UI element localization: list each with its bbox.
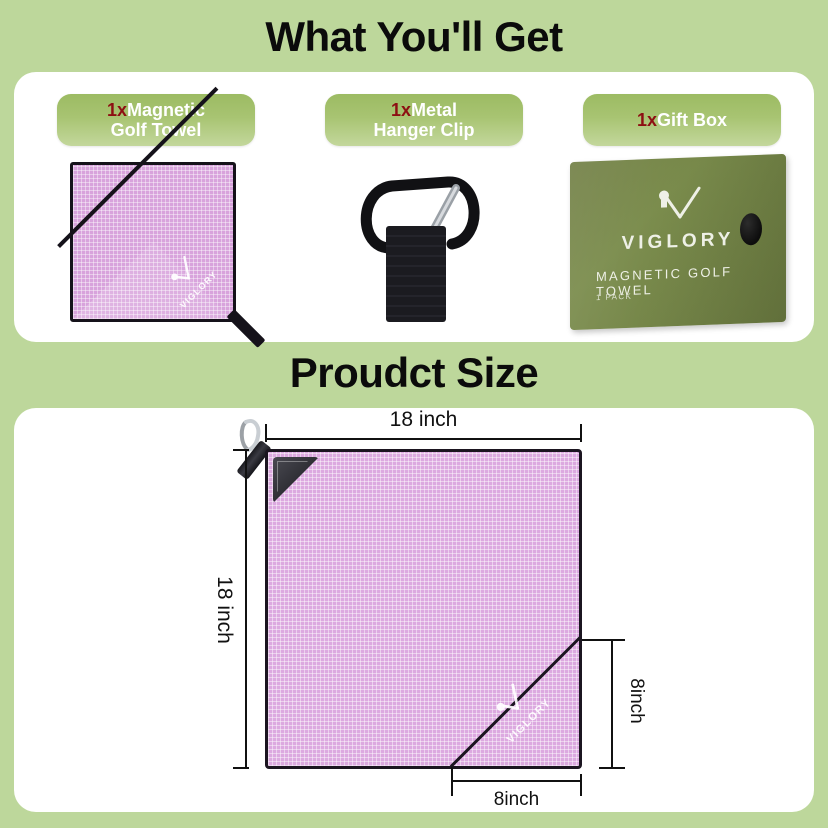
item-name-line1: Gift Box — [657, 110, 727, 130]
page-title-product-size: Proudct Size — [0, 352, 828, 394]
infographic-page: What You'll Get 1xMagnetic Golf Towel 1x… — [0, 0, 828, 828]
magnet-corner-patch — [273, 457, 319, 503]
item-qty: 1 — [107, 100, 117, 120]
product-image-hanger-clip — [352, 152, 492, 332]
dimension-line-width — [265, 438, 582, 440]
golf-club-icon — [647, 210, 709, 229]
item-label-magnetic-golf-towel: 1xMagnetic Golf Towel — [57, 94, 255, 146]
dimension-tick-corner-top — [599, 639, 625, 641]
item-label-metal-hanger-clip: 1xMetal Hanger Clip — [325, 94, 523, 146]
product-image-golf-towel: VIGLORY — [70, 162, 236, 322]
dimension-tick-top — [233, 449, 249, 451]
dimension-line-height — [245, 449, 247, 769]
dimension-label-corner-width: 8inch — [451, 789, 582, 811]
dimension-label-height: 18 inch — [212, 550, 236, 670]
item-name-line1: Metal — [411, 100, 457, 120]
item-name-line2: Hanger Clip — [373, 120, 474, 140]
dimension-label-corner-height: 8inch — [625, 651, 647, 751]
item-qty-multiplier: x — [647, 110, 657, 130]
item-qty: 1 — [391, 100, 401, 120]
dimension-tick-bottom — [233, 767, 249, 769]
gift-box-front: VIGLORY MAGNETIC GOLF TOWEL 1 PACK — [570, 154, 786, 330]
item-label-gift-box: 1xGift Box — [583, 94, 781, 146]
box-pack-count: 1 PACK — [596, 292, 632, 302]
towel-fabric: VIGLORY — [70, 162, 236, 322]
page-title-whats-included: What You'll Get — [0, 16, 828, 58]
towel-brand-logo: VIGLORY — [468, 660, 566, 758]
towel-brand-logo: VIGLORY — [146, 237, 229, 320]
item-qty-multiplier: x — [401, 100, 411, 120]
item-name-line2: Golf Towel — [111, 120, 202, 140]
dimension-line-corner-width — [451, 780, 582, 782]
dimension-line-corner-height — [611, 639, 613, 769]
towel-size-illustration: VIGLORY — [265, 449, 582, 769]
dimension-tick-corner-bottom — [599, 767, 625, 769]
size-diagram: VIGLORY 18 inch 18 inch 8inch 8inch — [14, 408, 814, 812]
item-qty: 1 — [637, 110, 647, 130]
dimension-label-width: 18 inch — [265, 408, 582, 432]
item-qty-multiplier: x — [117, 100, 127, 120]
product-image-gift-box: VIGLORY MAGNETIC GOLF TOWEL 1 PACK — [570, 158, 786, 326]
